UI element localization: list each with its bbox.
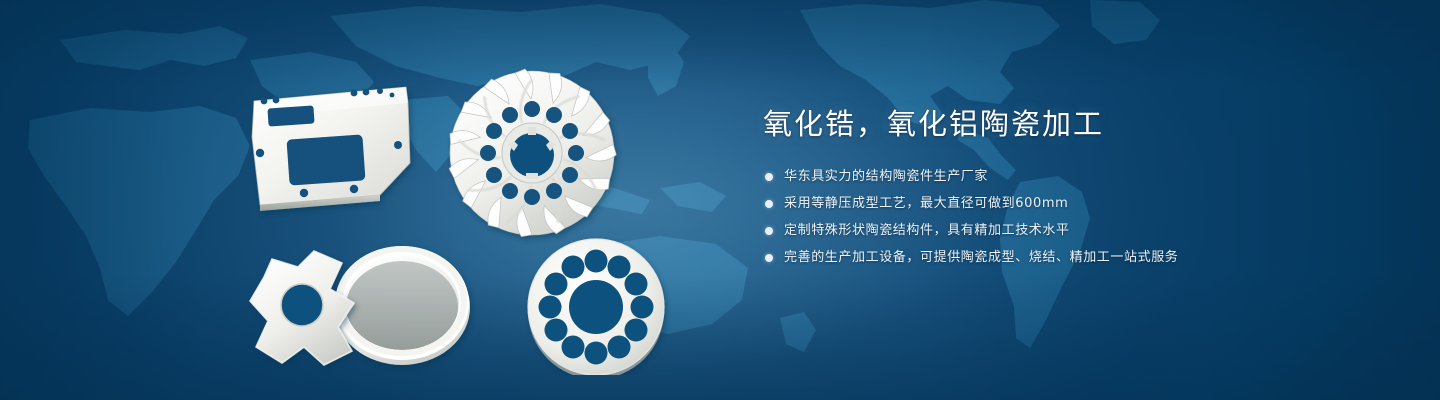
banner-headline: 氧化锆，氧化铝陶瓷加工 [763, 104, 1323, 144]
ceramic-plate-part [252, 87, 410, 211]
ceramic-star-part [250, 251, 354, 365]
bullet-dot-icon [765, 254, 773, 262]
list-item: 定制特殊形状陶瓷结构件，具有精加工技术水平 [763, 222, 1323, 240]
list-item: 华东具实力的结构陶瓷件生产厂家 [763, 168, 1323, 186]
feature-text: 华东具实力的结构陶瓷件生产厂家 [784, 169, 988, 184]
list-item: 采用等静压成型工艺，最大直径可做到600mm [763, 195, 1323, 213]
bullet-dot-icon [765, 200, 773, 208]
ceramic-impeller-part [447, 69, 617, 239]
ceramic-ring-part [340, 249, 464, 363]
feature-text: 采用等静压成型工艺，最大直径可做到600mm [784, 196, 1068, 211]
bullet-dot-icon [765, 173, 773, 181]
list-item: 完善的生产加工设备，可提供陶瓷成型、烧结、精加工一站式服务 [763, 249, 1323, 267]
ceramic-perforated-disc-part [528, 239, 664, 375]
feature-text: 完善的生产加工设备，可提供陶瓷成型、烧结、精加工一站式服务 [784, 250, 1178, 265]
feature-text: 定制特殊形状陶瓷结构件，具有精加工技术水平 [784, 223, 1070, 238]
bullet-dot-icon [765, 227, 773, 235]
banner-copy: 氧化锆，氧化铝陶瓷加工 华东具实力的结构陶瓷件生产厂家 采用等静压成型工艺，最大… [763, 104, 1323, 267]
ceramic-products-image [230, 45, 700, 375]
feature-list: 华东具实力的结构陶瓷件生产厂家 采用等静压成型工艺，最大直径可做到600mm 定… [763, 168, 1323, 267]
hero-banner: 氧化锆，氧化铝陶瓷加工 华东具实力的结构陶瓷件生产厂家 采用等静压成型工艺，最大… [0, 0, 1440, 400]
